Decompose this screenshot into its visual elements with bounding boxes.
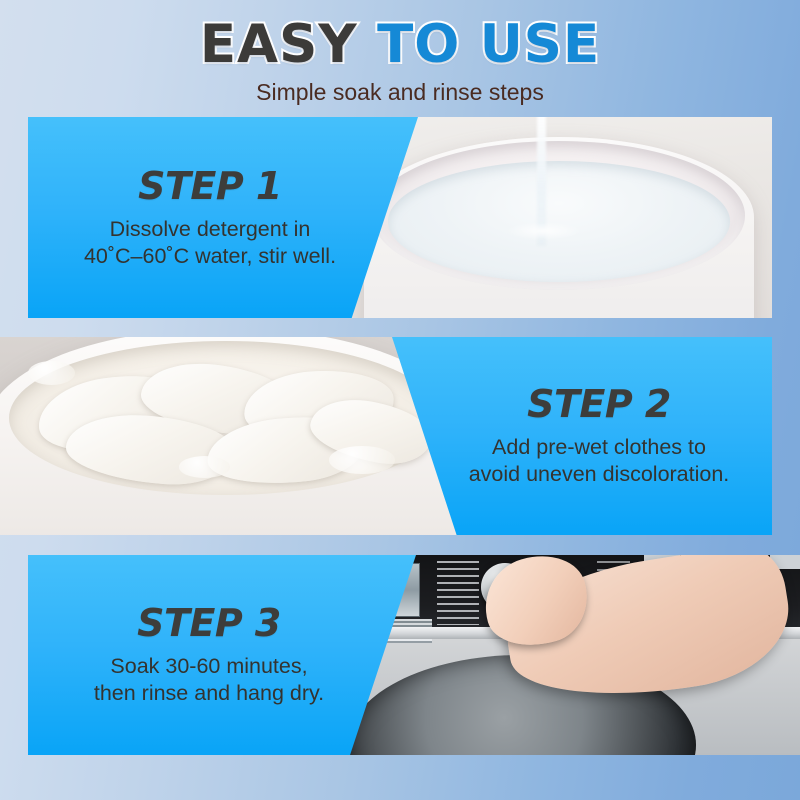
header: EASY TO USE Simple soak and rinse steps xyxy=(0,0,800,117)
step-2-title: STEP 2 xyxy=(527,384,671,424)
step-row-1: STEP 1 Dissolve detergent in 40˚C–60˚C w… xyxy=(28,117,772,318)
foam-bubble xyxy=(28,361,75,385)
step-2-description: Add pre-wet clothes to avoid uneven disc… xyxy=(469,434,730,488)
step-row-2: STEP 2 Add pre-wet clothes to avoid unev… xyxy=(0,337,772,535)
page-title: EASY TO USE xyxy=(0,0,800,72)
step-1-description-line-1: Dissolve detergent in xyxy=(110,217,311,241)
title-part-to-use: TO USE xyxy=(377,14,600,75)
step-3-panel: STEP 3 Soak 30-60 minutes, then rinse an… xyxy=(28,555,416,755)
step-3-description-line-1: Soak 30-60 minutes, xyxy=(110,654,307,678)
step-2-image xyxy=(0,337,470,535)
water-splash xyxy=(506,222,581,240)
step-1-description: Dissolve detergent in 40˚C–60˚C water, s… xyxy=(84,216,336,270)
page-subtitle: Simple soak and rinse steps xyxy=(0,72,800,105)
basin-water-surface xyxy=(388,161,730,282)
infographic-poster: EASY TO USE Simple soak and rinse steps … xyxy=(0,0,800,800)
step-3-description: Soak 30-60 minutes, then rinse and hang … xyxy=(94,653,324,707)
step-2-description-line-2: avoid uneven discoloration. xyxy=(469,462,730,486)
step-3-title: STEP 3 xyxy=(137,603,281,643)
foam-bubble xyxy=(179,456,231,478)
step-3-description-line-2: then rinse and hang dry. xyxy=(94,681,324,705)
step-row-3: 800 0:05 STEP 3 Soak 30-60 minutes, then… xyxy=(28,555,800,755)
program-menu-text xyxy=(437,561,479,625)
foam-bubble xyxy=(329,446,395,474)
step-1-panel: STEP 1 Dissolve detergent in 40˚C–60˚C w… xyxy=(28,117,418,318)
step-1-description-line-2: 40˚C–60˚C water, stir well. xyxy=(84,244,336,268)
step-2-panel: STEP 2 Add pre-wet clothes to avoid unev… xyxy=(392,337,772,535)
step-1-title: STEP 1 xyxy=(138,166,282,206)
step-2-description-line-1: Add pre-wet clothes to xyxy=(492,435,706,459)
title-part-easy: EASY xyxy=(200,14,358,75)
